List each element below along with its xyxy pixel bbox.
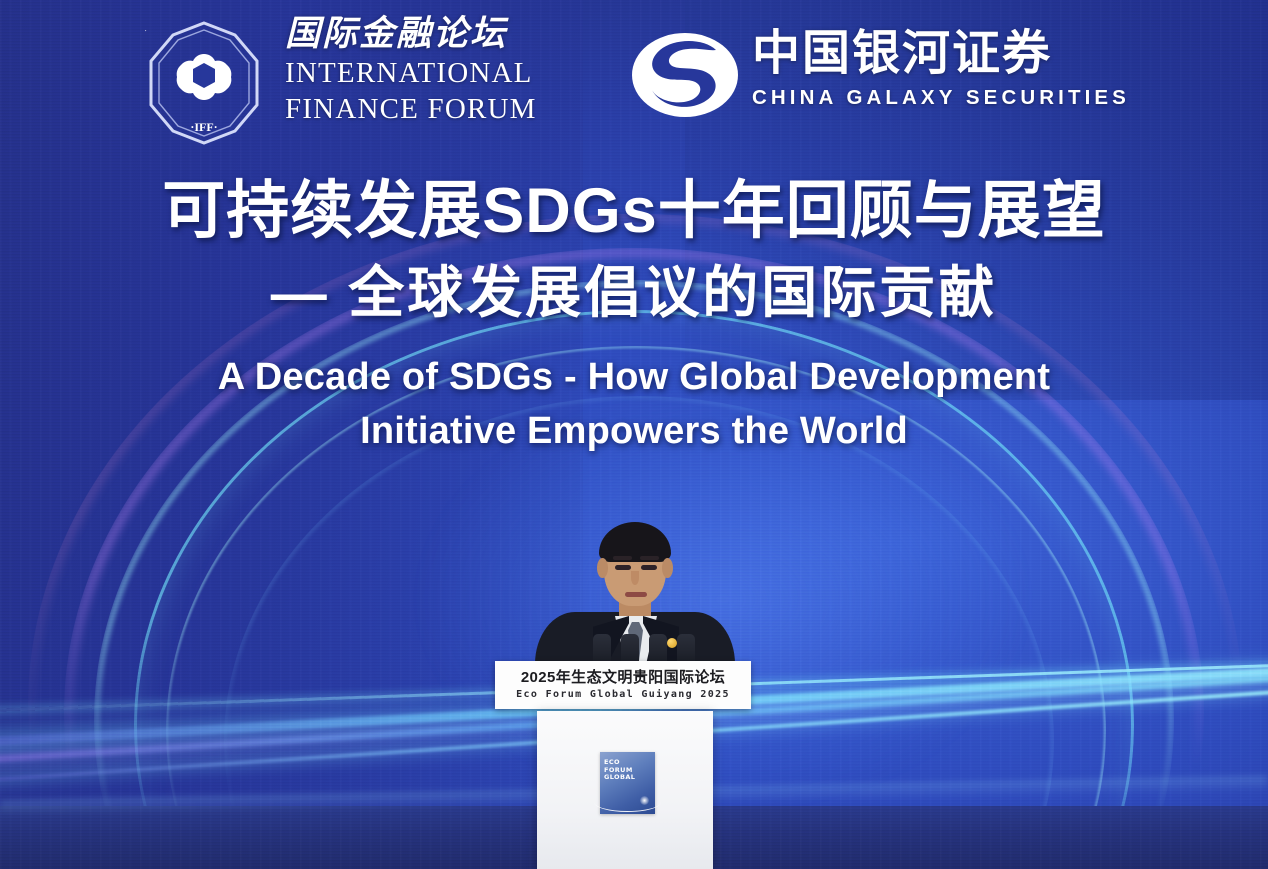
title-chinese-line1: 可持续发展SDGs十年回顾与展望 [0,180,1268,243]
svg-text:·IFF·: ·IFF· [190,120,217,134]
galaxy-wordmark: 中国银河证券 CHINA GALAXY SECURITIES [752,30,1130,110]
speaker-eyebrow-left [613,556,632,560]
iff-english-line1: INTERNATIONAL [285,57,585,89]
microphone-head [593,634,611,664]
podium-name-sign: 2025年生态文明贵阳国际论坛 Eco Forum Global Guiyang… [495,661,751,709]
speaker-eyebrow-right [640,556,659,560]
speaker-ear-left [597,558,608,578]
galaxy-swirl-icon [630,32,740,118]
iff-logo: INTERNATIONAL FINANCE FORUM ·IFF· [145,18,263,148]
title-english-line1: A Decade of SDGs - How Global Developmen… [0,351,1268,405]
title-chinese-line2: — 全球发展倡议的国际贡献 [0,265,1268,321]
galaxy-chinese-name: 中国银河证券 [752,30,1130,78]
iff-english-line2: FINANCE FORUM [285,93,585,125]
event-title-block: 可持续发展SDGs十年回顾与展望 — 全球发展倡议的国际贡献 A Decade … [0,180,1268,459]
microphone-head [621,634,639,664]
microphone-head [649,634,667,664]
galaxy-english-name: CHINA GALAXY SECURITIES [752,86,1130,110]
iff-chinese-name: 国际金融论坛 [285,16,585,53]
sponsor-logo-row: INTERNATIONAL FINANCE FORUM ·IFF· 国际金融论坛… [0,0,1268,160]
eco-forum-global-logo-text: ECO FORUM GLOBAL [604,759,635,782]
iff-seal-icon: INTERNATIONAL FINANCE FORUM ·IFF· [145,18,263,148]
speaker-eye-right [641,565,657,570]
conference-stage-photo: INTERNATIONAL FINANCE FORUM ·IFF· 国际金融论坛… [0,0,1268,869]
podium-sign-chinese: 2025年生态文明贵阳国际论坛 [521,670,725,687]
efg-line-3: GLOBAL [604,774,635,782]
speaker-eye-left [615,565,631,570]
title-english-line2: Initiative Empowers the World [0,405,1268,459]
efg-swoosh-icon [594,802,661,812]
speaker-nose [631,571,639,585]
speaker-hair [599,522,671,562]
microphone-head [677,634,695,664]
eco-forum-global-logo: ECO FORUM GLOBAL [600,752,655,814]
podium-sign-english: Eco Forum Global Guiyang 2025 [516,690,730,700]
speaker-mouth [625,592,647,597]
speaker-lapel-pin [667,638,677,648]
speaker-ear-right [662,558,673,578]
iff-wordmark: 国际金融论坛 INTERNATIONAL FINANCE FORUM [285,16,585,126]
